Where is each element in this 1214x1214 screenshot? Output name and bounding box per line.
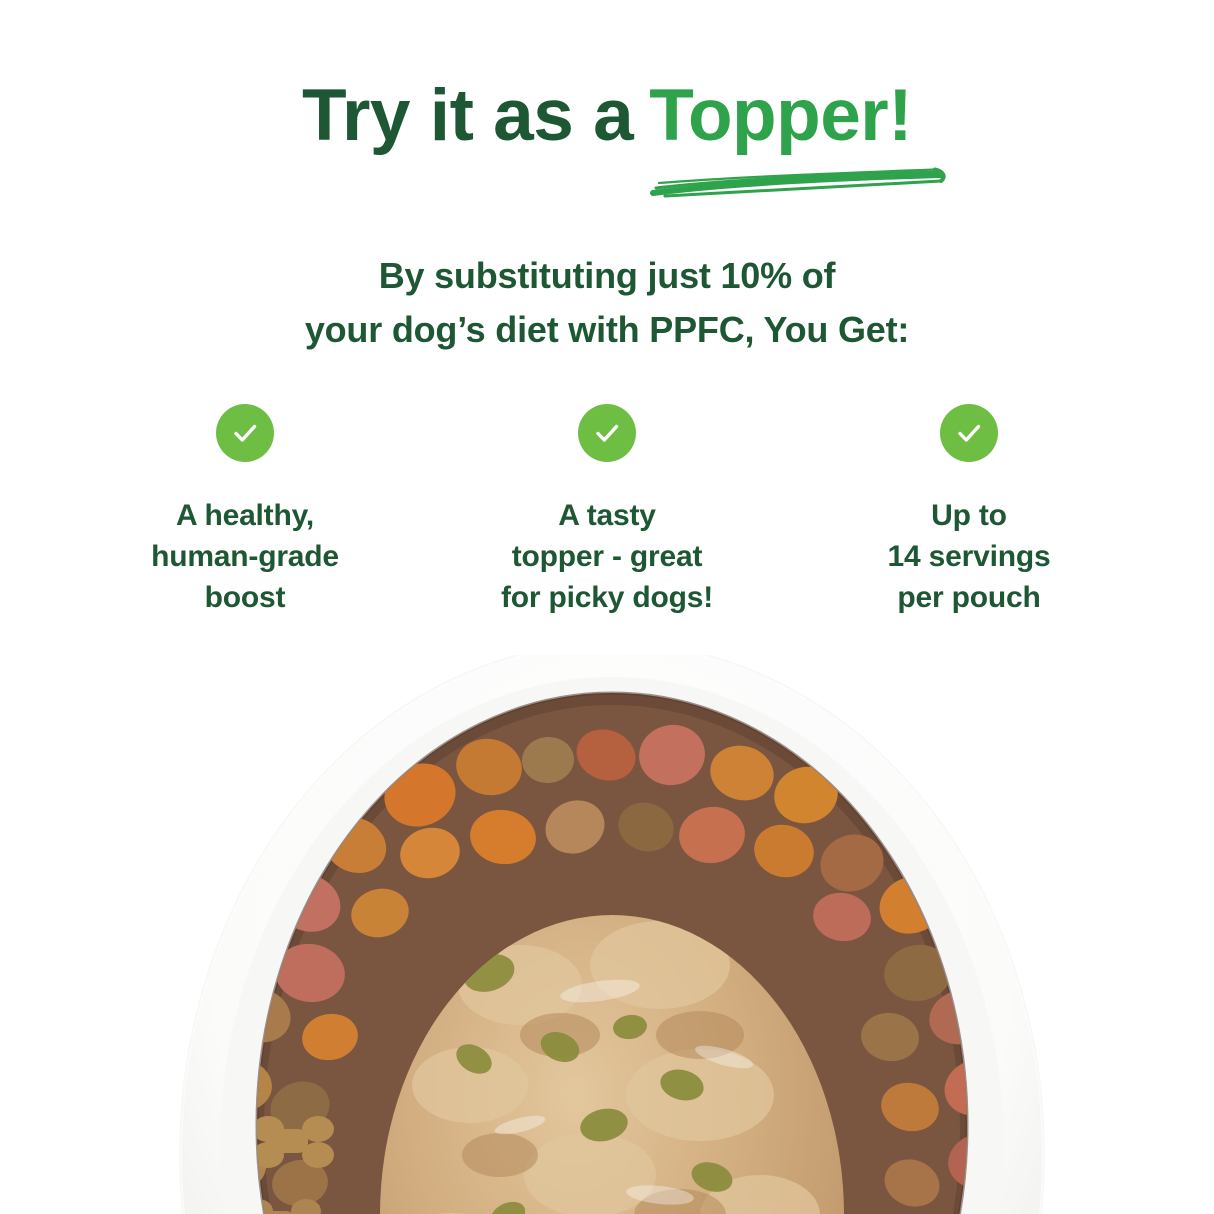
subheading-line-1: By substituting just 10% of	[0, 249, 1214, 303]
check-icon	[216, 404, 274, 462]
product-photo-bowl	[0, 655, 1214, 1214]
underline-scribble-decoration	[645, 160, 957, 202]
page-title: Try it as aTopper!	[0, 78, 1214, 154]
feature-list: A healthy, human-grade boost A tasty top…	[80, 404, 1134, 618]
feature-label: A tasty topper - great for picky dogs!	[501, 495, 713, 618]
check-icon	[940, 404, 998, 462]
check-icon	[578, 404, 636, 462]
subheading: By substituting just 10% of your dog’s d…	[0, 249, 1214, 357]
headline-part-one: Try it as a	[302, 75, 633, 156]
promo-page: Try it as aTopper! By substituting just …	[0, 0, 1214, 1214]
subheading-line-2: your dog’s diet with PPFC, You Get:	[0, 303, 1214, 357]
feature-item-tasty: A tasty topper - great for picky dogs!	[442, 404, 772, 618]
feature-label: Up to 14 servings per pouch	[888, 495, 1051, 618]
feature-item-servings: Up to 14 servings per pouch	[804, 404, 1134, 618]
feature-label: A healthy, human-grade boost	[151, 495, 339, 618]
bowl-illustration	[0, 655, 1214, 1214]
feature-item-healthy: A healthy, human-grade boost	[80, 404, 410, 618]
headline-part-two: Topper!	[649, 75, 912, 156]
